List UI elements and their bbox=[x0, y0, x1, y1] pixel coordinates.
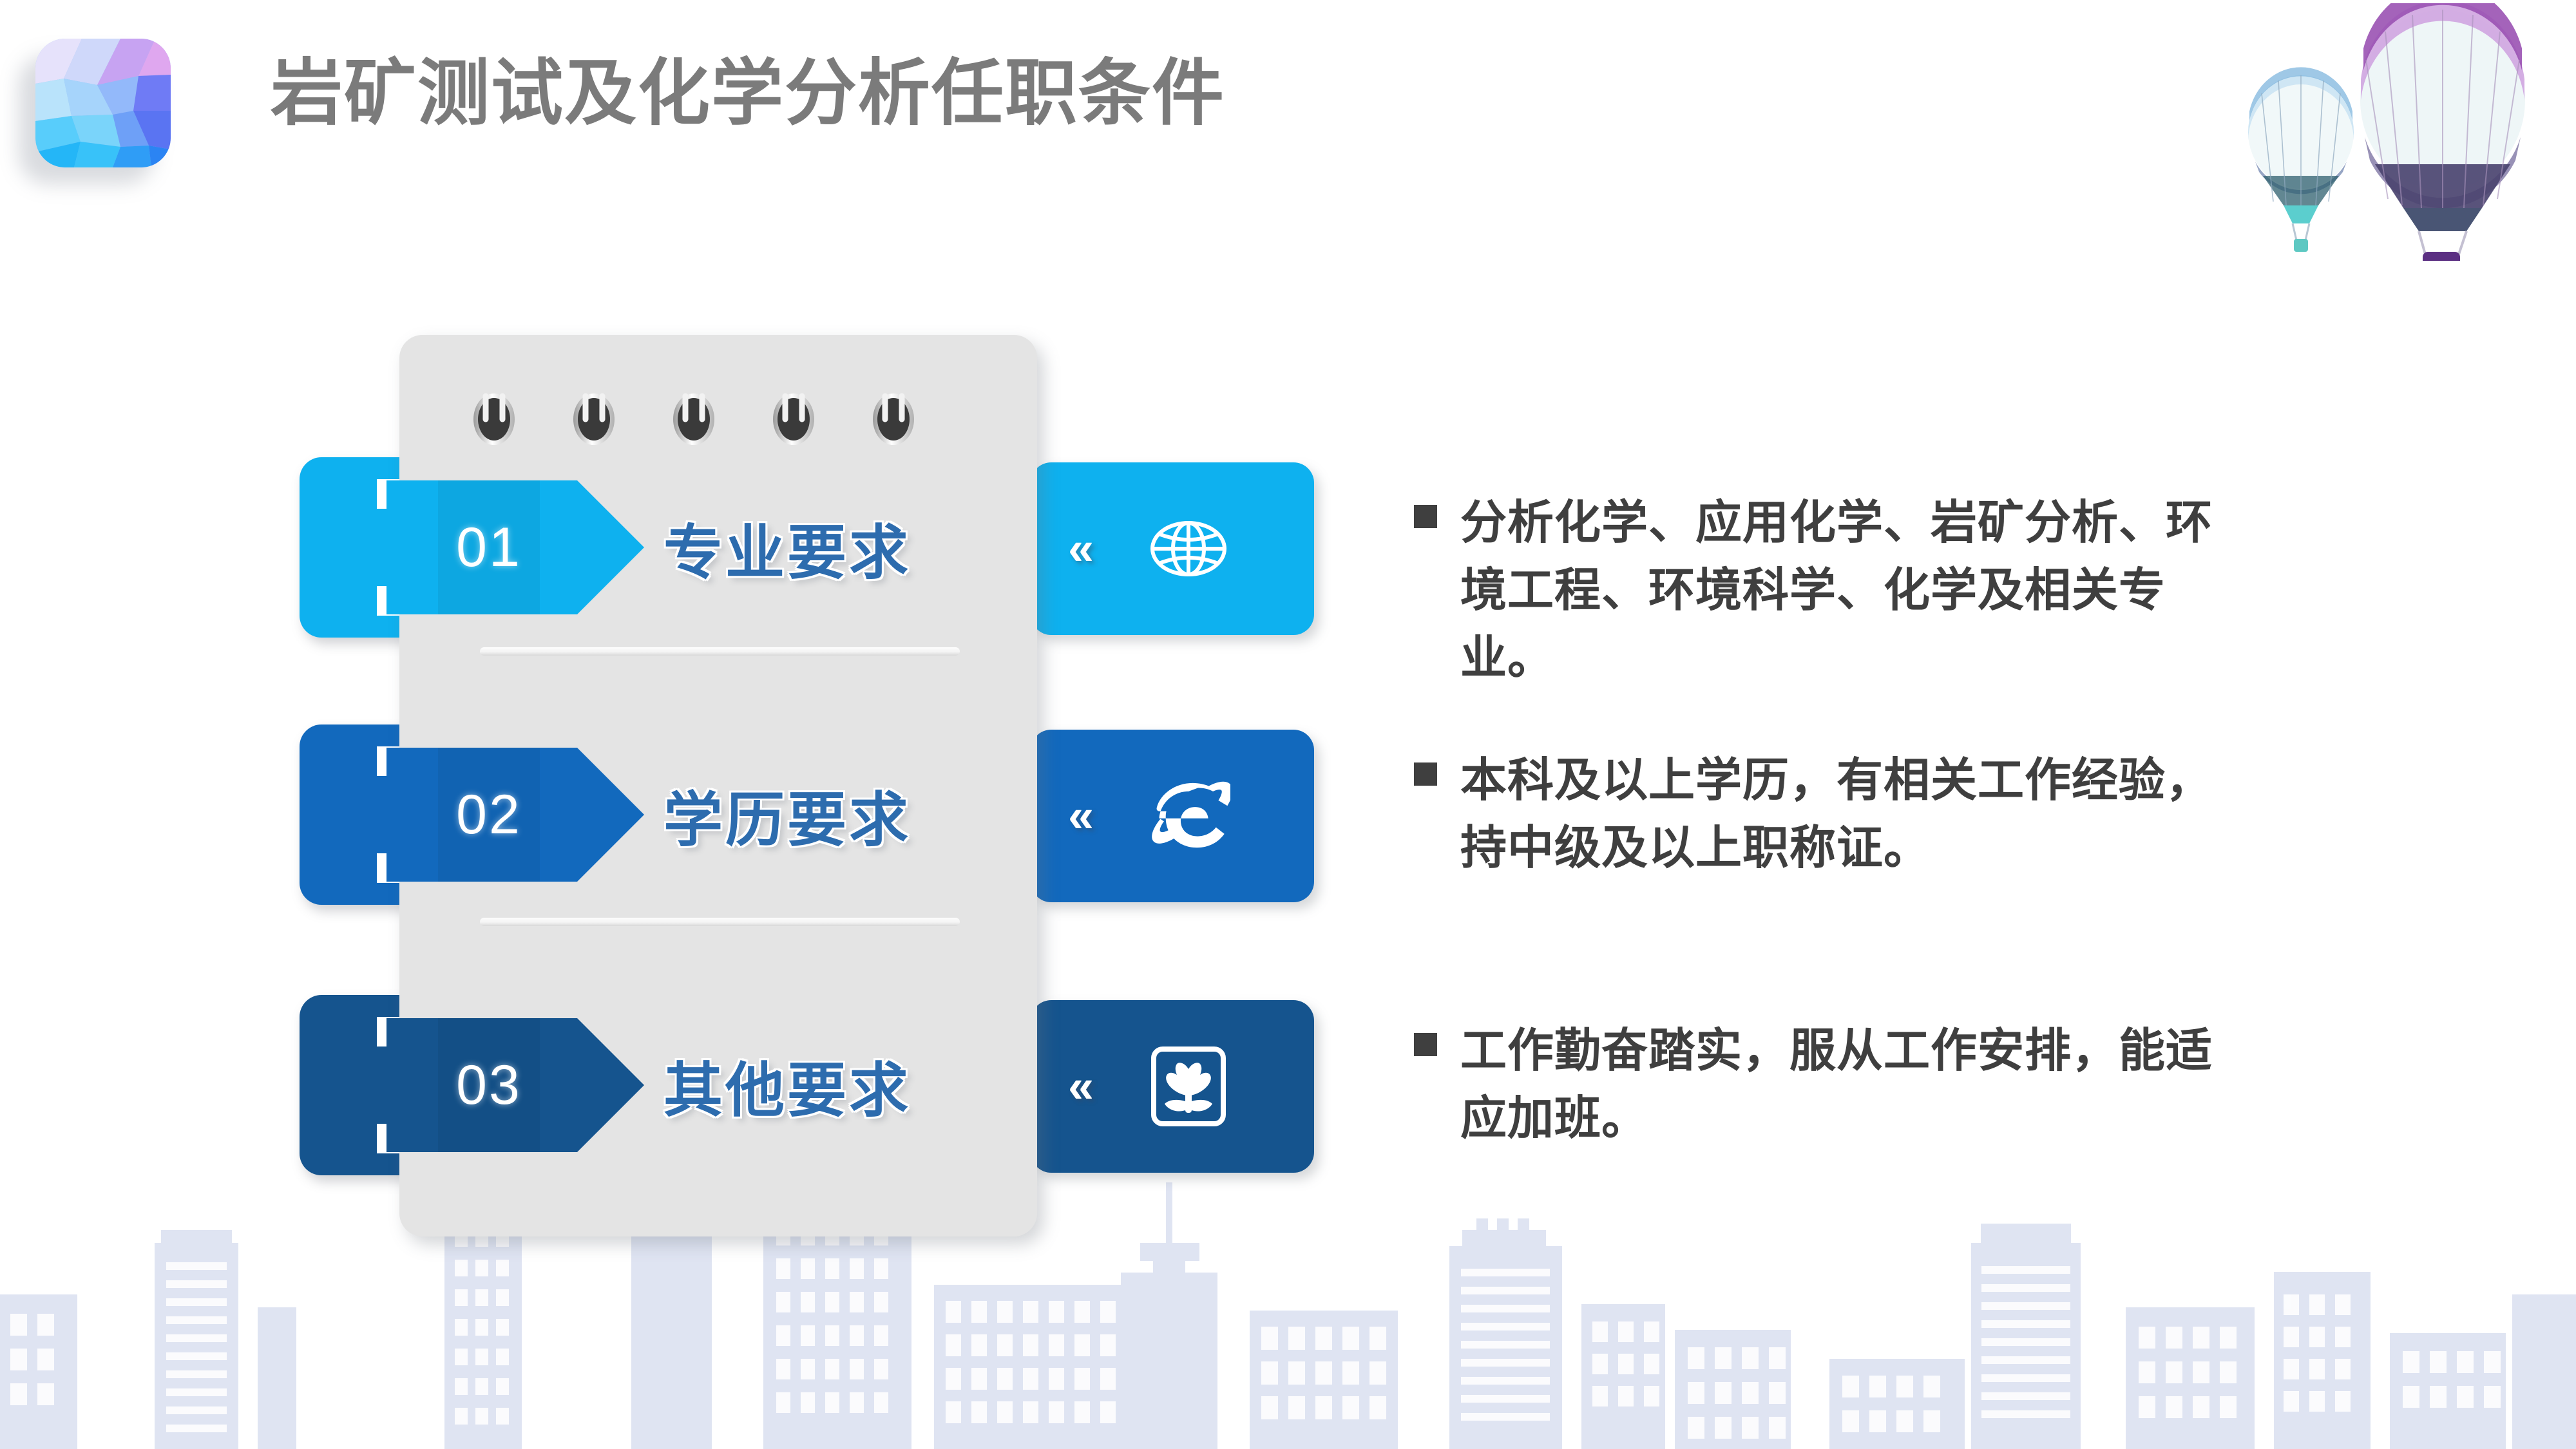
bullet-square-icon bbox=[1414, 1033, 1437, 1056]
bullet-item-2: 本科及以上学历，有相关工作经验，持中级及以上职称证。 bbox=[1414, 747, 2253, 882]
row-label-3: 其他要求 bbox=[663, 1027, 1024, 1143]
card-divider-1 bbox=[480, 647, 960, 656]
city-skyline-background bbox=[0, 1146, 2576, 1449]
double-chevron-left-icon: « bbox=[1068, 793, 1094, 839]
row-label-2: 学历要求 bbox=[663, 757, 1024, 873]
page-title: 岩矿测试及化学分析任职条件 bbox=[271, 50, 1225, 137]
tulip-flower-icon bbox=[1147, 1045, 1230, 1128]
globe-icon bbox=[1147, 507, 1230, 591]
row-icon-tab-2[interactable]: « bbox=[1031, 730, 1314, 902]
internet-explorer-icon bbox=[1147, 774, 1230, 858]
bullet-text-2: 本科及以上学历，有相关工作经验，持中级及以上职称证。 bbox=[1460, 747, 2253, 882]
row-number-3: 03 bbox=[441, 1018, 537, 1152]
bullet-item-1: 分析化学、应用化学、岩矿分析、环境工程、环境科学、化学及相关专业。 bbox=[1414, 489, 2253, 692]
row-number-2: 02 bbox=[441, 748, 537, 882]
bullet-item-3: 工作勤奋踏实，服从工作安排，能适应加班。 bbox=[1414, 1018, 2253, 1153]
double-chevron-left-icon: « bbox=[1068, 526, 1094, 572]
bullet-text-1: 分析化学、应用化学、岩矿分析、环境工程、环境科学、化学及相关专业。 bbox=[1460, 489, 2253, 692]
row-label-1: 专业要求 bbox=[663, 489, 1024, 605]
bullet-square-icon bbox=[1414, 762, 1437, 786]
bullet-text-3: 工作勤奋踏实，服从工作安排，能适应加班。 bbox=[1460, 1018, 2253, 1153]
row-icon-tab-1[interactable]: « bbox=[1031, 462, 1314, 635]
row-icon-tab-3[interactable]: « bbox=[1031, 1000, 1314, 1173]
card-divider-2 bbox=[480, 918, 960, 926]
double-chevron-left-icon: « bbox=[1068, 1063, 1094, 1110]
spiral-binding-rings bbox=[451, 293, 992, 460]
row-number-1: 01 bbox=[441, 480, 537, 614]
low-poly-gem-logo-icon bbox=[35, 39, 171, 167]
slide-canvas: 岩矿测试及化学分析任职条件 bbox=[0, 0, 2576, 1449]
bullet-square-icon bbox=[1414, 505, 1437, 528]
hot-air-balloons-icon bbox=[2235, 3, 2570, 261]
